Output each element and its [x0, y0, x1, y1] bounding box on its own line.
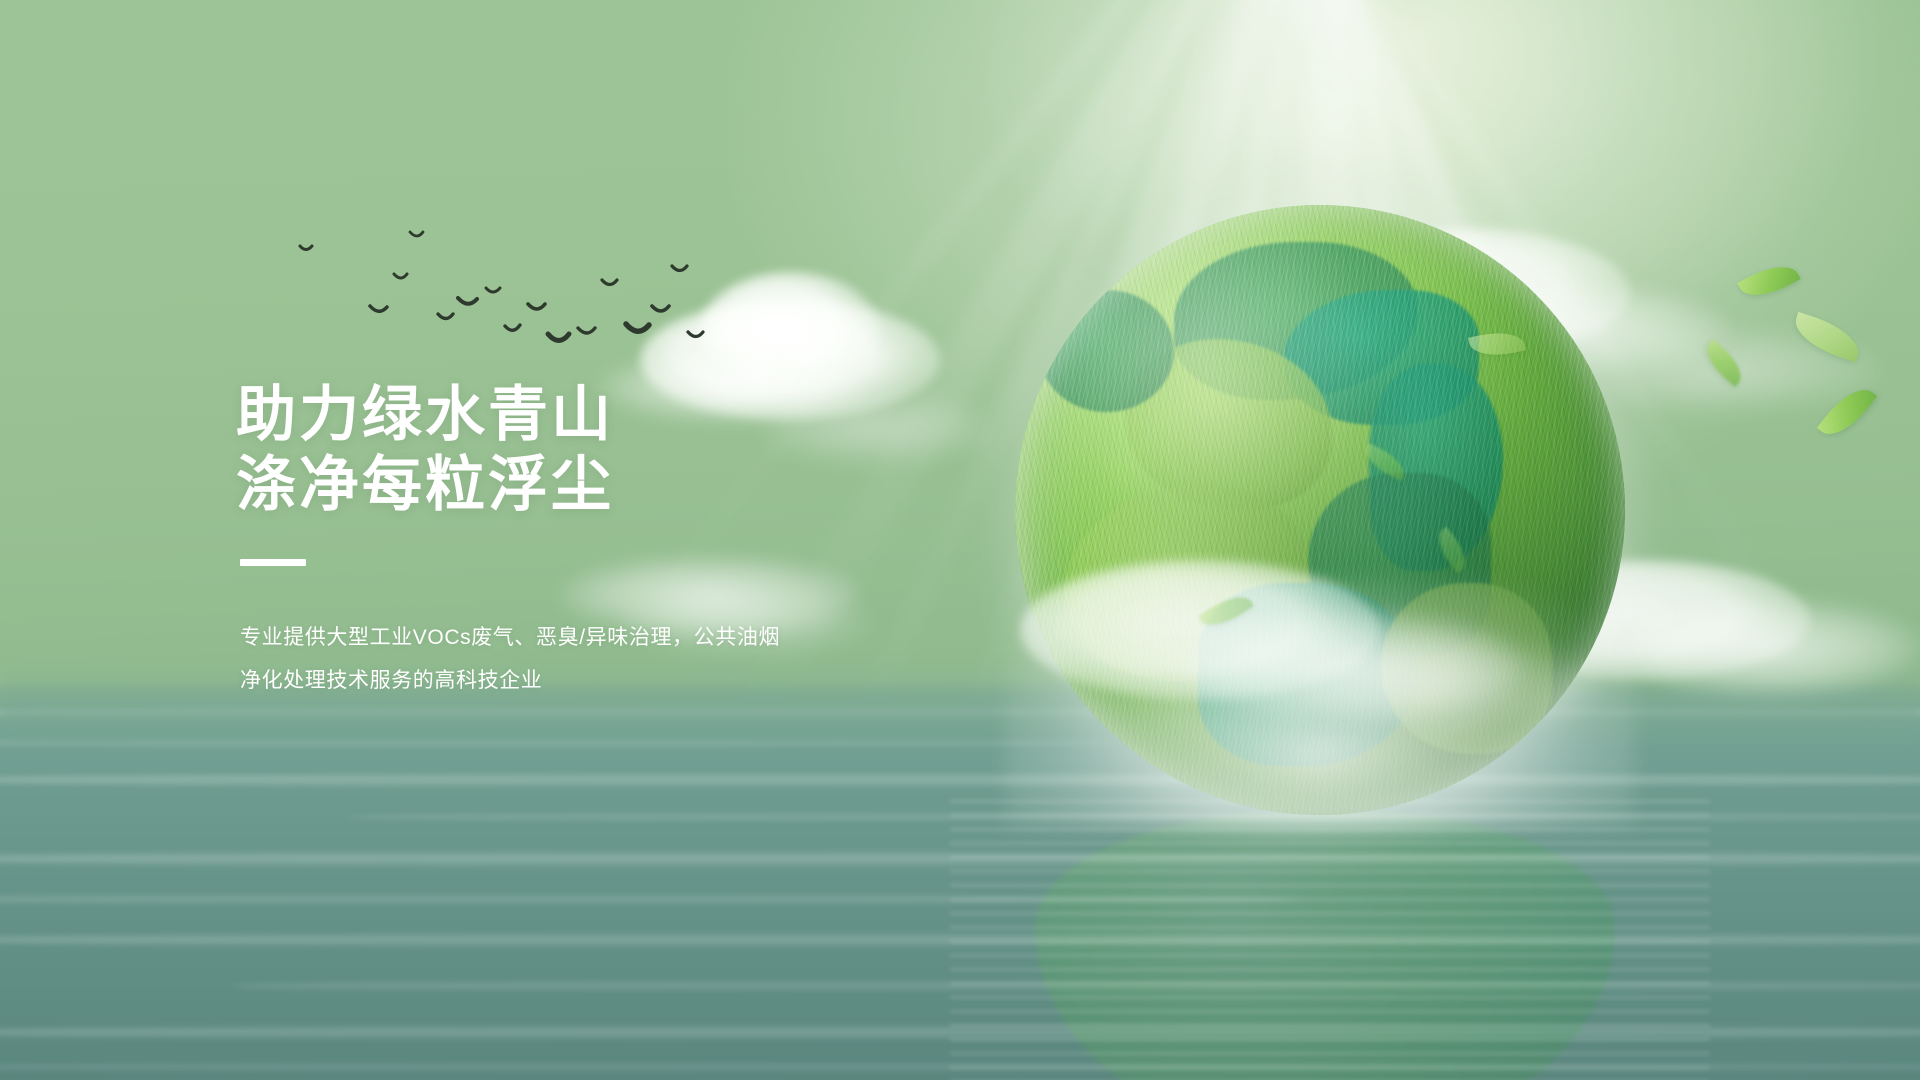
- globe-reflection: [1035, 812, 1615, 1080]
- bird-flock: [290, 228, 750, 358]
- green-earth-globe: [1015, 205, 1625, 815]
- headline-line-1: 助力绿水青山: [236, 380, 936, 450]
- birds-icon: [290, 228, 750, 358]
- headline-divider: [240, 559, 306, 566]
- water-surface: [0, 680, 1920, 1080]
- headline-line-2: 涤净每粒浮尘: [236, 450, 936, 520]
- hero-copy: 助力绿水青山 涤净每粒浮尘 专业提供大型工业VOCs废气、恶臭/异味治理，公共油…: [236, 380, 936, 702]
- hero-banner: 助力绿水青山 涤净每粒浮尘 专业提供大型工业VOCs废气、恶臭/异味治理，公共油…: [0, 0, 1920, 1080]
- hero-description: 专业提供大型工业VOCs废气、恶臭/异味治理，公共油烟净化处理技术服务的高科技企…: [240, 616, 800, 702]
